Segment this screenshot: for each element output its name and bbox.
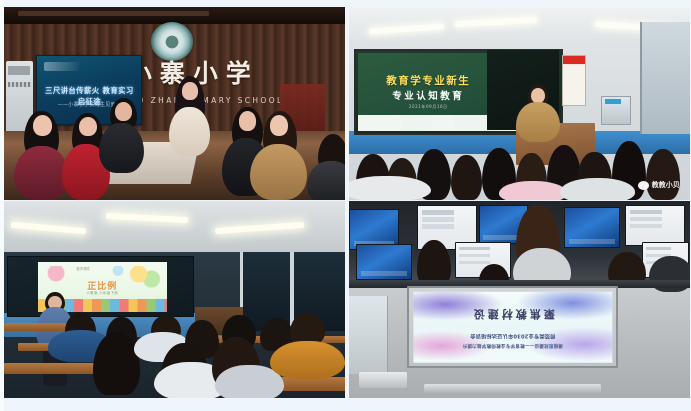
- student-body: [270, 341, 345, 379]
- desk: [4, 323, 72, 331]
- projection-screen: 课程思政建设——教育学专业教师教学能力提升 师范类专业2030年认证达标培训会 …: [407, 286, 618, 369]
- audience-head: [646, 149, 680, 200]
- slide-line-1: 课程思政建设——教育学专业教师教学能力提升: [421, 342, 604, 348]
- student-head: [290, 313, 324, 344]
- attendee-head: [115, 102, 132, 121]
- slide-date: 2021年09月16日: [366, 104, 490, 110]
- computer-monitor: [564, 207, 621, 248]
- computer-monitor: [356, 244, 413, 279]
- screen-base: [424, 384, 601, 394]
- audience-shoulders: [499, 181, 567, 200]
- panel-bottom-left[interactable]: 数学课件 正比例 人教版 六年级下册: [4, 201, 345, 398]
- panel-top-right[interactable]: 教育学专业新生 专业认知教育 2021年09月16日: [349, 7, 690, 200]
- audience-shoulders: [560, 178, 635, 200]
- panel-top-left[interactable]: 小寨小学 AO ZHAI PRIMARY SCHOOL 三尺讲台传薪火 教育实习…: [4, 7, 345, 200]
- desk-rows: [4, 311, 345, 398]
- attendee-body: [250, 144, 308, 200]
- glass-partition: [349, 296, 388, 375]
- presenter-head: [182, 82, 198, 99]
- wall-control-box: [601, 96, 630, 125]
- chalkboard: 数学课件 正比例 人教版 六年级下册: [7, 256, 193, 317]
- attendee-body: [14, 146, 69, 200]
- audience-shoulders: [349, 176, 431, 200]
- slide-tag: 数学课件: [77, 266, 91, 271]
- slide-logo: [44, 62, 79, 71]
- computer-monitor: [625, 205, 685, 246]
- collage-page: 小寨小学 AO ZHAI PRIMARY SCHOOL 三尺讲台传薪火 教育实习…: [0, 0, 691, 411]
- projector-device: [359, 372, 407, 388]
- presenter-body: [169, 107, 210, 155]
- attendee-body: [99, 123, 143, 173]
- attendee-head: [270, 115, 288, 136]
- wechat-watermark: 教教小贝: [638, 180, 680, 190]
- audience-rows: [349, 136, 690, 200]
- attendee-body: [307, 161, 345, 200]
- attendee-head: [33, 115, 52, 136]
- attendee-head: [239, 111, 256, 130]
- slide-title: 教育学专业新生: [366, 73, 490, 88]
- slide-line-3: 聚焦教材建设: [421, 307, 604, 323]
- panel-bottom-right[interactable]: 课程思政建设——教育学专业教师教学能力提升 师范类专业2030年认证达标培训会 …: [349, 201, 690, 398]
- projected-slide: 课程思政建设——教育学专业教师教学能力提升 师范类专业2030年认证达标培训会 …: [413, 292, 612, 363]
- ceiling-beam: [18, 11, 209, 16]
- school-crest-icon: [151, 22, 194, 61]
- photo-grid: 小寨小学 AO ZHAI PRIMARY SCHOOL 三尺讲台传薪火 教育实习…: [4, 7, 687, 405]
- window-wall: [640, 22, 690, 134]
- slide-line-2: 师范类专业2030年认证达标培训会: [421, 333, 604, 340]
- attendee-head: [79, 117, 97, 136]
- audience-head: [451, 155, 482, 200]
- wall-poster: [562, 55, 586, 105]
- watermark-text: 教教小贝: [652, 180, 680, 190]
- wechat-icon: [638, 181, 649, 190]
- slide-subtitle: 专业认知教育: [366, 88, 490, 102]
